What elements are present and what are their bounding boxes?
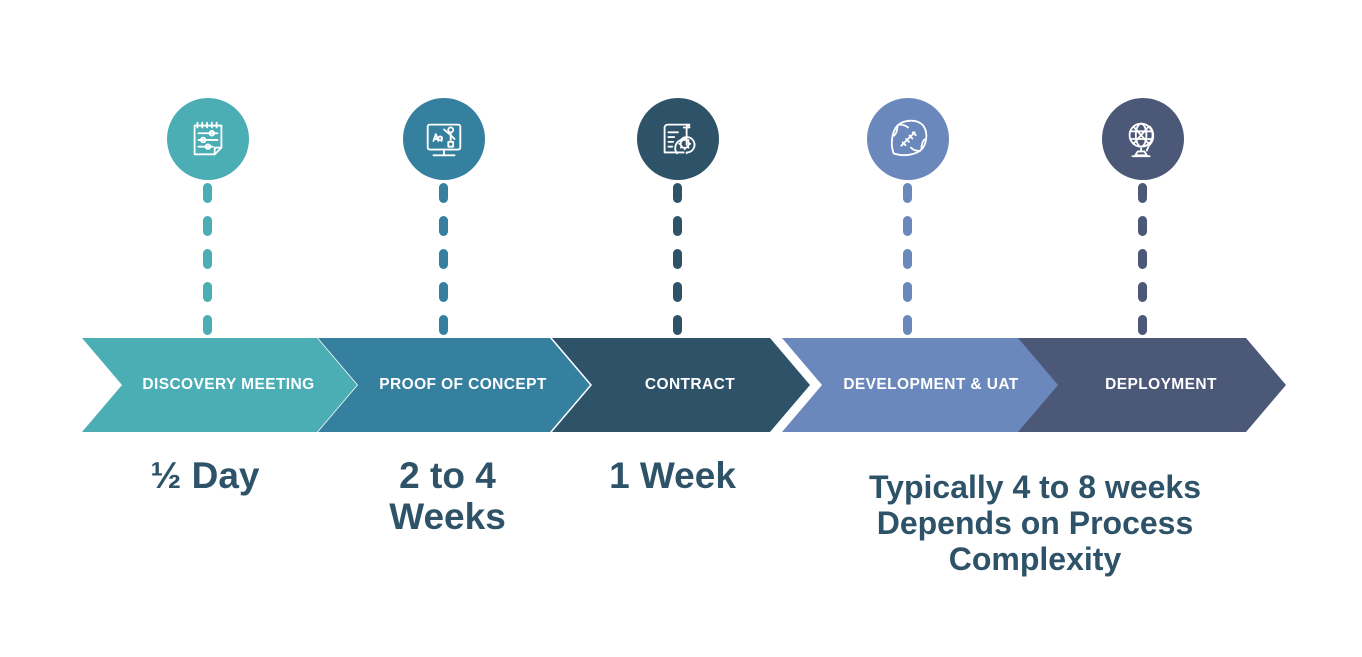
- step-icon-circle-discovery-meeting[interactable]: [167, 98, 249, 180]
- presentation-monitor-icon: [421, 116, 467, 162]
- duration-development-and-uat: Typically 4 to 8 weeks Depends on Proces…: [800, 470, 1270, 577]
- chevron-discovery-meeting[interactable]: DISCOVERY MEETING: [82, 338, 357, 432]
- chevron-deployment[interactable]: DEPLOYMENT: [1018, 338, 1286, 432]
- document-gear-head-icon: [655, 116, 701, 162]
- step-icon-circle-deployment[interactable]: [1102, 98, 1184, 180]
- chevron-label-contract: CONTRACT: [627, 376, 735, 394]
- chevron-label-deployment: DEPLOYMENT: [1087, 376, 1217, 394]
- chevron-development-and-uat[interactable]: DEVELOPMENT & UAT: [782, 338, 1062, 432]
- step-icon-circle-proof-of-concept[interactable]: [403, 98, 485, 180]
- chevron-contract[interactable]: CONTRACT: [552, 338, 810, 432]
- step-icon-circle-contract[interactable]: [637, 98, 719, 180]
- duration-discovery-meeting: ½ Day: [100, 455, 310, 496]
- chevron-label-discovery-meeting: DISCOVERY MEETING: [124, 376, 314, 394]
- duration-contract: 1 Week: [570, 455, 775, 496]
- duration-proof-of-concept: 2 to 4 Weeks: [340, 455, 555, 538]
- chevron-label-development-and-uat: DEVELOPMENT & UAT: [825, 376, 1018, 394]
- chevron-label-proof-of-concept: PROOF OF CONCEPT: [361, 376, 546, 394]
- globe-stand-icon: [1120, 116, 1166, 162]
- chevron-proof-of-concept[interactable]: PROOF OF CONCEPT: [318, 338, 590, 432]
- process-timeline-diagram: DISCOVERY MEETING PROOF OF CONCEPT CONTR…: [0, 0, 1362, 657]
- checklist-sliders-icon: [185, 116, 231, 162]
- football-icon: [885, 116, 931, 162]
- step-icon-circle-development-and-uat[interactable]: [867, 98, 949, 180]
